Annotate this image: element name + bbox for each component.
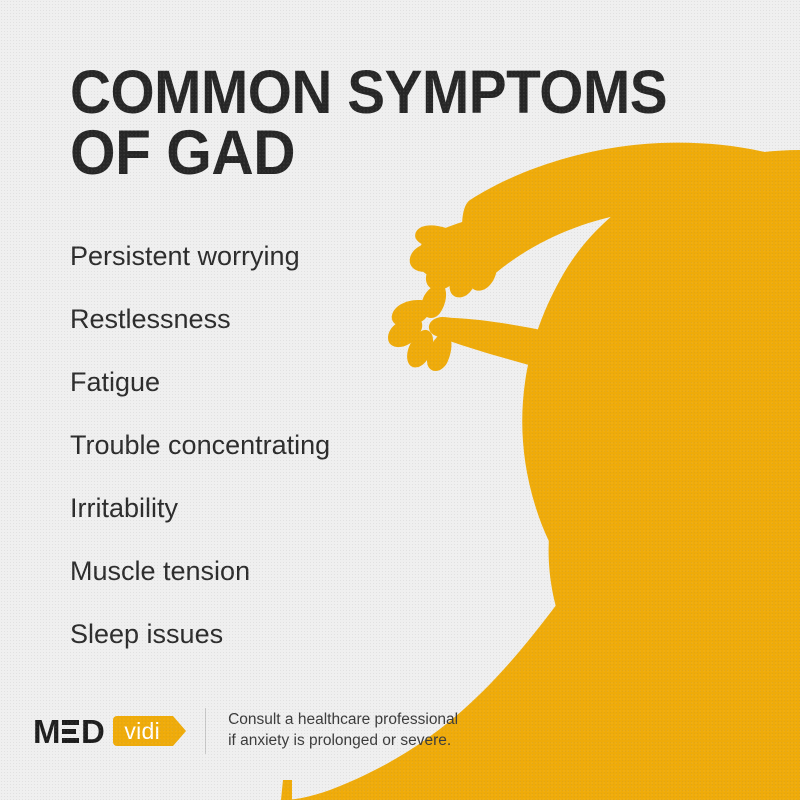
infographic-poster: COMMON SYMPTOMS OF GAD Persistent worryi… — [0, 0, 800, 800]
footer: M D vidi Consult a healthcare profession… — [33, 705, 458, 757]
logo-letter-e-bars-icon — [62, 720, 79, 743]
page-title: COMMON SYMPTOMS OF GAD — [70, 62, 730, 185]
logo-letter-m: M — [33, 715, 60, 748]
medvidi-logo: M D vidi — [33, 714, 173, 748]
list-item: Restlessness — [70, 306, 330, 369]
list-item: Fatigue — [70, 369, 330, 432]
logo-wordmark-med: M D — [33, 714, 104, 748]
list-item: Irritability — [70, 495, 330, 558]
title-line-1: COMMON SYMPTOMS — [70, 62, 684, 122]
list-item: Trouble concentrating — [70, 432, 330, 495]
list-item: Sleep issues — [70, 621, 330, 684]
disclaimer-text: Consult a healthcare professional if anx… — [228, 710, 458, 752]
list-item: Persistent worrying — [70, 243, 330, 306]
list-item: Muscle tension — [70, 558, 330, 621]
title-line-2: OF GAD — [70, 122, 684, 184]
logo-badge-vidi: vidi — [113, 716, 173, 746]
logo-letter-d: D — [81, 715, 104, 748]
footer-divider — [205, 708, 206, 754]
symptom-list: Persistent worrying Restlessness Fatigue… — [70, 243, 330, 684]
